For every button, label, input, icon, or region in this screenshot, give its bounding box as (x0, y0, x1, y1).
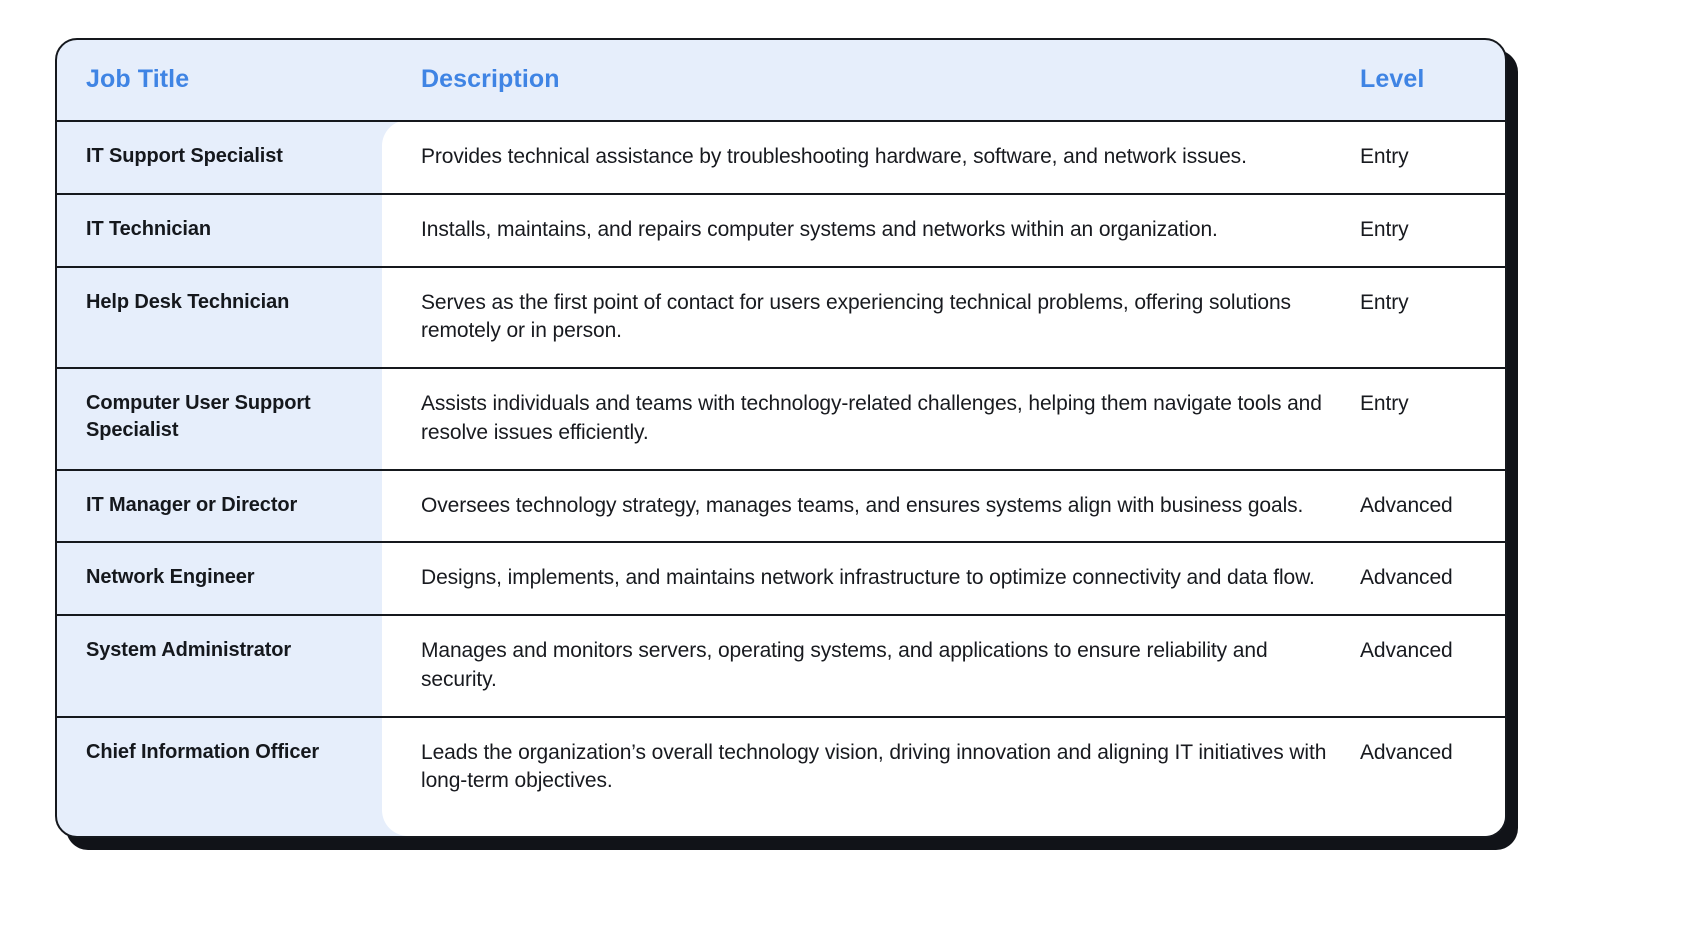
job-title-text: Help Desk Technician (86, 291, 289, 313)
description-text: Leads the organization’s overall technol… (421, 741, 1326, 793)
level-text: Advanced (1360, 566, 1453, 589)
column-header-description-label: Description (421, 66, 560, 94)
cell-level: Entry (1358, 195, 1505, 266)
cell-job-title: IT Support Specialist (57, 122, 382, 191)
cell-level: Entry (1358, 268, 1505, 339)
cell-level: Advanced (1358, 543, 1505, 614)
cell-description: Leads the organization’s overall technol… (382, 718, 1358, 818)
cell-job-title: Chief Information Officer (57, 718, 382, 787)
page-root: Job Title Description Level IT Support S… (0, 0, 1684, 948)
job-roles-table: Job Title Description Level IT Support S… (57, 40, 1505, 836)
description-text: Installs, maintains, and repairs compute… (421, 218, 1218, 241)
table-header-row: Job Title Description Level (57, 40, 1505, 120)
level-text: Advanced (1360, 494, 1453, 517)
cell-level: Advanced (1358, 616, 1505, 687)
job-title-text: IT Technician (86, 218, 211, 240)
job-title-text: System Administrator (86, 639, 291, 661)
level-text: Advanced (1360, 741, 1453, 764)
cell-description: Installs, maintains, and repairs compute… (382, 195, 1358, 266)
description-text: Designs, implements, and maintains netwo… (421, 566, 1315, 589)
cell-job-title: Network Engineer (57, 543, 382, 612)
table-row: Network EngineerDesigns, implements, and… (57, 541, 1505, 614)
cell-job-title: IT Manager or Director (57, 471, 382, 540)
job-title-text: IT Manager or Director (86, 494, 297, 516)
description-text: Manages and monitors servers, operating … (421, 639, 1268, 691)
job-title-text: Computer User Support Specialist (86, 392, 311, 441)
column-header-job-title-label: Job Title (86, 66, 189, 94)
table-row: IT TechnicianInstalls, maintains, and re… (57, 193, 1505, 266)
level-text: Entry (1360, 218, 1409, 241)
cell-level: Advanced (1358, 471, 1505, 542)
description-text: Assists individuals and teams with techn… (421, 392, 1322, 444)
job-title-text: IT Support Specialist (86, 145, 283, 167)
cell-description: Manages and monitors servers, operating … (382, 616, 1358, 716)
table-row: Computer User Support SpecialistAssists … (57, 367, 1505, 469)
cell-level: Advanced (1358, 718, 1505, 789)
description-text: Serves as the first point of contact for… (421, 291, 1291, 343)
cell-description: Provides technical assistance by trouble… (382, 122, 1358, 193)
level-text: Entry (1360, 145, 1409, 168)
level-text: Entry (1360, 291, 1409, 314)
cell-level: Entry (1358, 369, 1505, 440)
table-row: Help Desk TechnicianServes as the first … (57, 266, 1505, 368)
job-title-text: Network Engineer (86, 566, 254, 588)
level-text: Advanced (1360, 639, 1453, 662)
level-text: Entry (1360, 392, 1409, 415)
cell-level: Entry (1358, 122, 1505, 193)
cell-description: Assists individuals and teams with techn… (382, 369, 1358, 469)
cell-job-title: IT Technician (57, 195, 382, 264)
cell-job-title: Computer User Support Specialist (57, 369, 382, 465)
table-row: IT Manager or DirectorOversees technolog… (57, 469, 1505, 542)
cell-description: Oversees technology strategy, manages te… (382, 471, 1358, 542)
job-roles-table-card: Job Title Description Level IT Support S… (55, 38, 1507, 838)
cell-description: Designs, implements, and maintains netwo… (382, 543, 1358, 614)
cell-job-title: Help Desk Technician (57, 268, 382, 337)
table-row: IT Support SpecialistProvides technical … (57, 120, 1505, 193)
table-row: System AdministratorManages and monitors… (57, 614, 1505, 716)
cell-job-title: System Administrator (57, 616, 382, 685)
description-text: Provides technical assistance by trouble… (421, 145, 1247, 168)
column-header-level: Level (1358, 40, 1505, 120)
column-header-level-label: Level (1360, 66, 1424, 94)
description-text: Oversees technology strategy, manages te… (421, 494, 1303, 517)
column-header-job-title: Job Title (57, 40, 382, 120)
column-header-description: Description (382, 40, 1358, 120)
job-title-text: Chief Information Officer (86, 741, 319, 763)
table-row: Chief Information OfficerLeads the organ… (57, 716, 1505, 818)
cell-description: Serves as the first point of contact for… (382, 268, 1358, 368)
